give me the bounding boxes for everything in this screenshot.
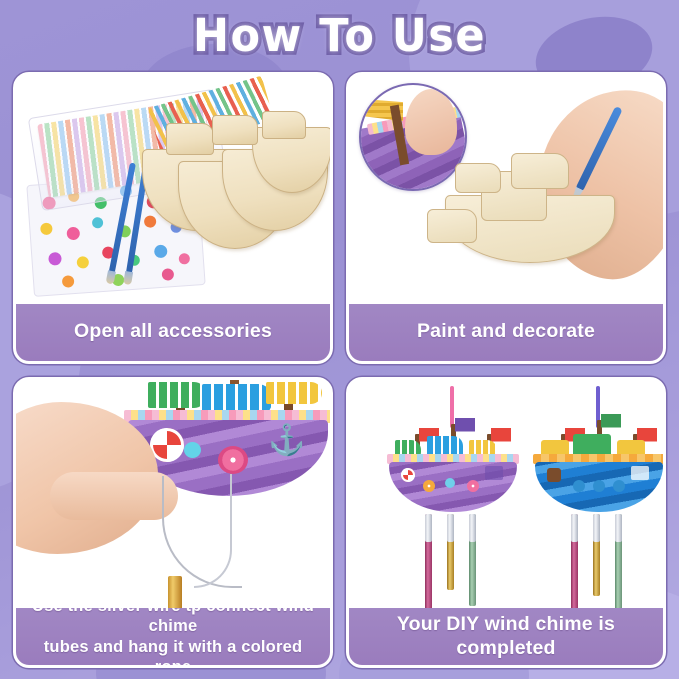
wooden-sail-blank bbox=[212, 115, 258, 145]
step-card-3: ⚓ Use the silver wire tp connect wind ch… bbox=[13, 377, 333, 669]
flag bbox=[491, 428, 511, 442]
pink-flower-gem bbox=[218, 446, 248, 474]
tube-cap bbox=[615, 514, 622, 542]
wooden-sail-part bbox=[511, 153, 569, 189]
wind-chime-purple bbox=[377, 386, 527, 609]
step-2-photo bbox=[349, 75, 663, 304]
ship-body bbox=[383, 418, 523, 514]
page-title: How To Use bbox=[193, 10, 486, 63]
dot-sticker bbox=[573, 480, 585, 492]
gem bbox=[62, 275, 75, 288]
skull-sticker bbox=[485, 466, 503, 480]
step-card-2: Paint and decorate bbox=[346, 72, 666, 364]
skull-sticker bbox=[631, 466, 649, 480]
flower-sticker bbox=[467, 480, 479, 492]
gem bbox=[48, 252, 62, 266]
gem bbox=[92, 217, 104, 229]
chime-tube bbox=[425, 514, 432, 609]
gem bbox=[144, 215, 157, 228]
step-3-caption: Use the silver wire tp connect wind chim… bbox=[16, 608, 330, 665]
porthole-sticker bbox=[547, 468, 561, 482]
sail-yellow bbox=[266, 382, 322, 404]
thumb bbox=[405, 89, 457, 155]
chime-tube bbox=[593, 514, 600, 596]
title-container: How To Use bbox=[0, 0, 679, 72]
step-4-caption: Your DIY wind chime is completed bbox=[349, 608, 663, 665]
gold-chime-tube bbox=[168, 576, 182, 609]
wooden-sail-blank bbox=[262, 111, 306, 139]
tube-cap bbox=[469, 514, 476, 542]
step-card-4: Your DIY wind chime is completed bbox=[346, 377, 666, 669]
close-up-inset bbox=[359, 83, 467, 191]
chime-tube bbox=[469, 514, 476, 606]
chime-tube bbox=[571, 514, 578, 609]
finger bbox=[50, 472, 178, 520]
gem bbox=[76, 256, 89, 269]
anchor-icon: ⚓ bbox=[268, 426, 305, 456]
gem bbox=[154, 244, 168, 258]
gem-sticker bbox=[445, 478, 455, 488]
blue-gem bbox=[184, 442, 201, 458]
tube-cap bbox=[593, 514, 600, 542]
flag bbox=[601, 414, 621, 428]
chime-tube bbox=[447, 514, 454, 590]
step-4-photo bbox=[349, 380, 663, 609]
flag bbox=[455, 418, 475, 432]
dot-sticker bbox=[613, 480, 625, 492]
flower-sticker bbox=[423, 480, 435, 492]
step-3-photo: ⚓ bbox=[16, 380, 330, 609]
step-1-photo bbox=[16, 75, 330, 304]
gem bbox=[66, 227, 80, 241]
ship-body bbox=[529, 418, 663, 514]
tube-cap bbox=[447, 514, 454, 542]
gem bbox=[161, 268, 174, 281]
step-1-caption: Open all accessories bbox=[16, 304, 330, 361]
dot-sticker bbox=[593, 480, 605, 492]
wooden-sail-part bbox=[455, 163, 501, 193]
gem bbox=[40, 222, 53, 235]
wooden-sail-blank bbox=[166, 123, 214, 155]
sail-green bbox=[148, 382, 206, 408]
how-to-use-infographic: How To Use bbox=[0, 0, 679, 679]
wind-chime-blue bbox=[523, 386, 663, 609]
tube-cap bbox=[425, 514, 432, 542]
step-2-caption: Paint and decorate bbox=[349, 304, 663, 361]
tube-cap bbox=[571, 514, 578, 542]
caption-line-2: tubes and hang it with a colored rope bbox=[44, 638, 303, 669]
step-card-1: Open all accessories bbox=[13, 72, 333, 364]
life-ring-sticker bbox=[401, 468, 415, 482]
wooden-sail-part bbox=[427, 209, 477, 243]
steps-grid: Open all accessories bbox=[13, 72, 666, 668]
gem bbox=[178, 253, 190, 265]
chime-tube bbox=[615, 514, 622, 609]
